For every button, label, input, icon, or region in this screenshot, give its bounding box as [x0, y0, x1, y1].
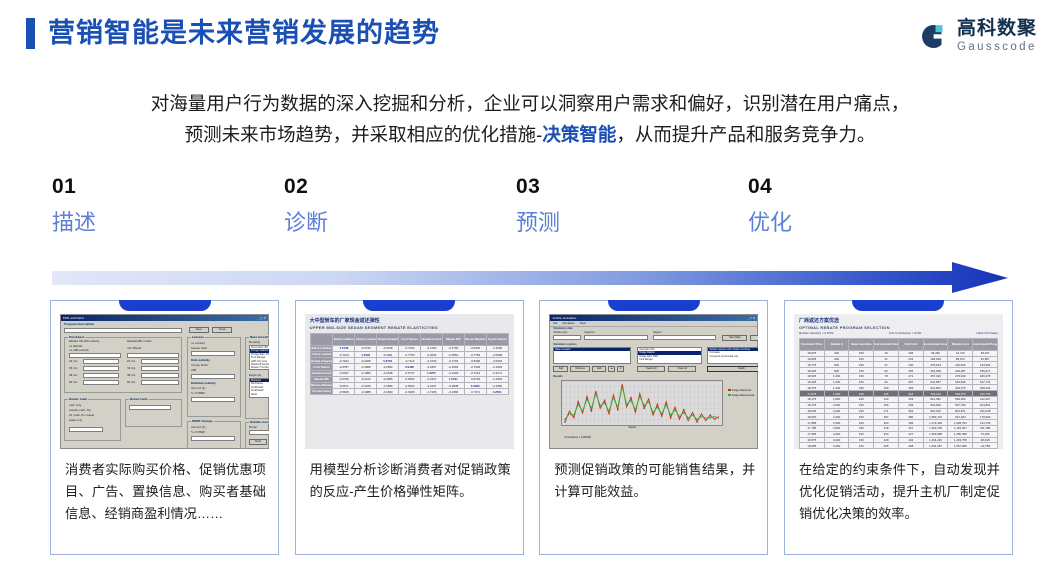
radio-msrp-amount[interactable]: amount ($) [191, 426, 206, 429]
radio-rebate-cash-fin[interactable]: rebate (cash, fin) [69, 409, 91, 412]
win-title-text: Vehicle simulation [552, 316, 576, 320]
term-label: 60 mo. [69, 381, 78, 384]
win-title-text: EDB estimatio [63, 316, 84, 320]
term-label: 36 mo. [127, 367, 136, 370]
clear-button[interactable]: Clear [249, 439, 267, 445]
card-predict[interactable]: Vehicle simulation _ □ ✕ File Simulation… [539, 300, 768, 555]
table-cell: 458 [898, 443, 923, 449]
card-caption: 用模型分析诊断消费者对促销政策的反应-产生价格弹性矩阵。 [310, 459, 511, 503]
col-header: Toyota Camry [486, 334, 508, 346]
card-screenshot-simulation: Vehicle simulation _ □ ✕ File Simulation… [549, 314, 758, 449]
market-rate-36[interactable] [141, 366, 179, 371]
regions-label: Region(s) [249, 374, 261, 377]
models-label: Model(s) [249, 341, 260, 344]
scenario-listbox[interactable]: Base scenario [553, 347, 631, 364]
rebate-model-select[interactable] [249, 430, 269, 435]
save-button[interactable]: Save [189, 327, 209, 333]
step-label: 诊断 [284, 212, 516, 234]
title-accent-bar [26, 18, 35, 49]
market-rate-24[interactable] [141, 359, 179, 364]
field-label: Region [653, 331, 661, 334]
table-cell: 1,534,487 [923, 443, 948, 449]
table-cell: -0.2380 [442, 389, 464, 395]
table-cell: -0.1660 [377, 389, 399, 395]
group-title: Bonus Cash [129, 397, 149, 401]
col-header: Incremental Gross Margin [923, 339, 948, 351]
step-item-3: 03 预测 [516, 176, 748, 234]
table-body: 18,9752001501620995,24041,71048,04718,82… [799, 350, 997, 448]
move-up-icon[interactable]: ▲ [608, 366, 615, 372]
term-label: 60 mo. [127, 381, 136, 384]
rebate-table: Customer Price Rebate $ Base Incentive I… [799, 338, 998, 449]
col-header: Mazda 626 [442, 334, 464, 346]
col-header: Rebate Cost [948, 339, 973, 351]
unit-contribution-note: Unit Contribution = $790 [889, 331, 921, 336]
field-label: Rebate OR APR subsidy [69, 340, 99, 343]
title-row: 营销智能是未来营销发展的趋势 [26, 18, 440, 49]
radio-all[interactable]: all (cash, fin, lease) [69, 414, 94, 417]
logo-mark-icon [916, 20, 949, 53]
col-header: Buick LeSabre [333, 334, 355, 346]
card-caption: 在给定的约束条件下，自动发现并优化促销活动，提升主机厂制定促销优化决策的效率。 [799, 459, 1000, 525]
segment-select[interactable] [584, 335, 648, 340]
close-button[interactable]: Close [750, 335, 758, 341]
table-header-row: Customer Price Rebate $ Base Incentive I… [799, 339, 997, 351]
table-cell: 3,400 [824, 443, 849, 449]
matrix-title-cn: 大中型轿车的厂家现金返还弹性 [310, 318, 509, 325]
progress-arrow-icon [52, 262, 1008, 294]
lead-line-1: 对海量用户行为数据的深入挖掘和分析，企业可以洞察用户需求和偏好，识别潜在用户痛点… [151, 93, 910, 114]
bonus-cash-input[interactable] [129, 405, 171, 410]
col-header: Chevy Lumina [355, 334, 377, 346]
legend-swatch-actual [728, 394, 731, 396]
list-item[interactable]: West [250, 393, 269, 396]
rebate-elasticity-note: Rebate elasticity = 0.8752 [799, 331, 834, 336]
win-controls-icon: _ □ ✕ [257, 316, 266, 320]
radio-no-apr-subsidy[interactable]: no APR subsidy [69, 349, 89, 352]
group-label: Program Description [64, 323, 94, 326]
model-label: Model [249, 426, 257, 429]
radio-lease-only[interactable]: lease only [69, 419, 82, 422]
radio-apr[interactable]: APR [191, 369, 196, 372]
remove-button[interactable]: Remove [570, 366, 590, 372]
list-item[interactable]: Unit gross incremental cost [708, 355, 758, 358]
dealer-cash-input[interactable] [69, 427, 103, 432]
win-controls-icon: _ □ ✕ [748, 316, 756, 320]
clear-all-button[interactable]: Clear All [668, 366, 696, 372]
market-rate-60[interactable] [141, 380, 179, 385]
table-cell: 265 [874, 443, 899, 449]
msrp-change-input[interactable] [191, 436, 235, 441]
radio-no-rebate[interactable]: no Rebate [69, 345, 82, 348]
add-button[interactable]: Add [553, 366, 568, 372]
card-screenshot-matrix: 大中型轿车的厂家现金返还弹性 UPPER MID-SIZE SEDAN SEGM… [305, 314, 514, 449]
card-tab-marker [363, 300, 455, 311]
table-cell: -0.5645 [333, 389, 355, 395]
elasticity-table: Buick LeSabre Chevy Lumina Dodge Intrepi… [310, 333, 509, 395]
page-title: 营销智能是未来营销发展的趋势 [48, 20, 440, 47]
radio-msrp-pct[interactable]: % of MSRP [191, 431, 205, 434]
step-item-4: 04 优化 [748, 176, 980, 234]
term-value-60[interactable] [83, 380, 119, 385]
lead-paragraph: 对海量用户行为数据的深入挖掘和分析，企业可以洞察用户需求和偏好，识别潜在用户痛点… [50, 88, 1010, 150]
options-listbox[interactable]: Vehicle volumes with rebate incentives U… [707, 347, 758, 364]
brand-logo: 高科数聚 Gausscode [916, 19, 1037, 54]
region-select[interactable] [653, 335, 716, 340]
group-label: Simulation options [553, 343, 576, 346]
col-header: Honda Accord [420, 334, 442, 346]
row-header: Toyota Camry [310, 389, 333, 395]
radio-no-subsidy[interactable]: no subsidy [191, 342, 205, 345]
slide-header: 营销智能是未来营销发展的趋势 高科数聚 Gausscode [0, 0, 1051, 72]
table-cell: -0.7371 [464, 389, 486, 395]
card-diagnose[interactable]: 大中型轿车的厂家现金返还弹性 UPPER MID-SIZE SEDAN SEGM… [295, 300, 524, 555]
table-cell: 150 [849, 443, 874, 449]
field-label: Segment [584, 331, 594, 334]
legend-label: Dodge Dakota actual [732, 394, 754, 397]
list-item-selected[interactable]: Base scenario [554, 348, 630, 351]
rebate-title-cn: 厂商返还方案优选 [799, 318, 998, 325]
step-number: 04 [748, 176, 980, 197]
step-number: 01 [52, 176, 284, 197]
regions-listbox[interactable]: Midwest Northeast Southeast Southwest We… [249, 378, 269, 398]
table-header-row: Buick LeSabre Chevy Lumina Dodge Intrepi… [310, 334, 508, 346]
matrix-title-en: UPPER MID-SIZE SEDAN SEGMENT REBATE ELAS… [310, 325, 509, 331]
table-cell: 1,557,286 [948, 443, 973, 449]
table-cell: -0.6189 [399, 389, 421, 395]
market-rate-48[interactable] [141, 373, 179, 378]
group-title: Dealer Cash [68, 397, 88, 401]
radio-money-factor[interactable]: money factor [191, 364, 208, 367]
lead-line-2-post: ，从而提升产品和服务竞争力。 [616, 124, 875, 145]
group-label: Results [553, 375, 562, 378]
models-listbox[interactable]: Chevrolet 150 Dodge Dakota Dodge Ram 150… [249, 345, 269, 370]
simulation-plot [561, 380, 723, 426]
save-data-button[interactable]: Save Data [722, 335, 747, 341]
term-value-36[interactable] [83, 366, 119, 371]
group-title: MSRP change [191, 419, 214, 423]
row-header: Nissan Maxima [310, 382, 333, 388]
legend-swatch-sim [728, 389, 731, 391]
term-label: 48 mo. [127, 374, 136, 377]
term-label: 24 mo. [69, 360, 78, 363]
radio-pct-msrp[interactable]: % of MSRP [191, 392, 205, 395]
step-item-2: 02 诊断 [284, 176, 516, 234]
lessee-cash-input[interactable] [191, 351, 235, 356]
card-screenshot-rebate-table: 厂商返还方案优选 OPTIMAL REBATE PROGRAM SELECTIO… [794, 314, 1003, 449]
group-title: Rebate incentives [249, 420, 269, 424]
logo-name-cn: 高科数聚 [957, 19, 1037, 38]
lead-line-2-pre: 预测未来市场趋势，并采取相应的优化措施- [185, 124, 543, 145]
radio-amount[interactable]: amount ($) [191, 387, 206, 390]
card-list: EDB estimatio _ □ ✕ Program Description … [50, 300, 1013, 555]
card-caption: 预测促销政策的可能销售结果，并计算可能效益。 [554, 459, 755, 503]
radio-cash-only[interactable]: cash only [69, 404, 81, 407]
legend-entry: Dodge Dakota sim [728, 389, 754, 392]
residual-subsidy-label: Residual subsidy [191, 382, 216, 385]
table-cell: 4.2561 [486, 389, 508, 395]
table-cell: -1.7436 [420, 389, 442, 395]
col-header: Nissan Maxima [464, 334, 486, 346]
card-screenshot-dialog: EDB estimatio _ □ ✕ Program Description … [60, 314, 269, 449]
logo-text: 高科数聚 Gausscode [957, 19, 1037, 54]
col-header: Dodge Intrepid [377, 334, 399, 346]
step-number: 02 [284, 176, 516, 197]
lessee-cash-label: Lessee Cash [191, 347, 207, 350]
list-item[interactable]: Nissan Frontier [250, 366, 269, 369]
row-header: Chevy Lumina [310, 351, 333, 357]
row-header: Buick LeSabre [310, 345, 333, 351]
col-header: Unit Cost [898, 339, 923, 351]
step-label: 预测 [516, 212, 748, 234]
legend-label: Dodge Dakota sim [732, 389, 752, 392]
lead-highlight: 决策智能 [542, 124, 616, 145]
term-label: 24 mo. [127, 360, 136, 363]
term-label: 48 mo. [69, 374, 78, 377]
group-label: Simulation data [553, 327, 572, 330]
graph-button[interactable]: Graph [707, 366, 758, 372]
plot-svg [562, 381, 722, 425]
residual-subsidy-input[interactable] [191, 397, 235, 402]
table-row: Toyota Camry-0.5645-0.1988-0.1660-0.6189… [310, 389, 508, 395]
slide-root: 营销智能是未来营销发展的趋势 高科数聚 Gausscode 对海量用户行为数据的… [0, 0, 1051, 586]
card-describe[interactable]: EDB estimatio _ □ ✕ Program Description … [50, 300, 279, 555]
correlation-note: (Correlation = 0.96335) [564, 436, 591, 439]
table-cell: -22,789 [973, 443, 998, 449]
table-row: 18,0853,4001502654581,534,4871,557,286-2… [799, 443, 997, 449]
row-header: Ford Taurus [310, 364, 333, 370]
step-item-1: 01 描述 [52, 176, 284, 234]
step-list: 01 描述 02 诊断 03 预测 04 优化 [52, 176, 1012, 234]
term-value-48[interactable] [83, 373, 119, 378]
row-header: Dodge Intrepid [310, 358, 333, 364]
rebate-input[interactable] [69, 353, 121, 358]
col-header: Rebate $ [824, 339, 849, 351]
rate-subsidy-input[interactable] [191, 374, 235, 379]
menu-file[interactable]: File [553, 322, 557, 325]
rate-subsidy-label: Rate subsidy [191, 359, 210, 362]
col-header: Base Incentive [849, 339, 874, 351]
row-header: Honda Accord [310, 370, 333, 376]
program-description-input[interactable] [64, 328, 182, 333]
list-item[interactable]: Ford Ranger [638, 358, 701, 361]
step-label: 描述 [52, 212, 284, 234]
x-axis-label: Weeks [628, 426, 636, 429]
field-label: Vehicle type [553, 331, 567, 334]
col-header: Ford Taurus [399, 334, 421, 346]
table-cell: -0.1988 [355, 389, 377, 395]
card-tab-marker [608, 300, 700, 311]
nash-unit-sales-note: Nash Unit Sales [976, 331, 998, 336]
card-tab-marker [852, 300, 944, 311]
close-button[interactable]: Close [212, 327, 232, 333]
col-header: Customer Price [799, 339, 824, 351]
step-label: 优化 [748, 212, 980, 234]
term-label: 36 mo. [69, 367, 78, 370]
term-value-24[interactable] [83, 359, 119, 364]
vehicle-type-select[interactable] [553, 335, 581, 340]
menu-tools[interactable]: Tools [580, 322, 586, 325]
group-title: Purchases [68, 335, 86, 339]
card-caption: 消费者实际购买价格、促销优惠项目、广告、置换信息、购买者基础信息、经销商盈利情况… [65, 459, 266, 525]
edit-button[interactable]: Edit [592, 366, 606, 372]
select-all-button[interactable]: Select All [637, 366, 665, 372]
chart-legend: Dodge Dakota sim Dodge Dakota actual [728, 389, 754, 397]
step-number: 03 [516, 176, 748, 197]
model-listbox[interactable]: Chevrolet S10 Dodge Dakota Dodge Ram 150… [637, 347, 702, 364]
move-down-icon[interactable]: ▼ [617, 366, 624, 372]
rebate-subtitle-row: Rebate elasticity = 0.8752 Unit Contribu… [799, 331, 998, 336]
group-title: Lessees [191, 335, 205, 339]
radio-not-offered[interactable]: not offered [127, 347, 141, 350]
legend-entry: Dodge Dakota actual [728, 394, 754, 397]
logo-name-en: Gausscode [957, 42, 1037, 54]
table-body: Buick LeSabre1.1548-0.2742-0.2018-0.7254… [310, 345, 508, 395]
combo-input[interactable] [127, 353, 179, 358]
menu-simulation[interactable]: Simulation [563, 322, 575, 325]
table-cell: 18,085 [799, 443, 824, 449]
field-label: Rebate/APR combo [127, 340, 152, 343]
card-tab-marker [119, 300, 211, 311]
group-title: Base incentives [249, 335, 269, 339]
col-header: Incremental Program Profit [973, 339, 998, 351]
col-header: Incremental Volume [874, 339, 899, 351]
corner-cell [310, 334, 333, 346]
card-optimize[interactable]: 厂商返还方案优选 OPTIMAL REBATE PROGRAM SELECTIO… [784, 300, 1013, 555]
bonus-cash-group: Bonus Cash [125, 399, 182, 427]
